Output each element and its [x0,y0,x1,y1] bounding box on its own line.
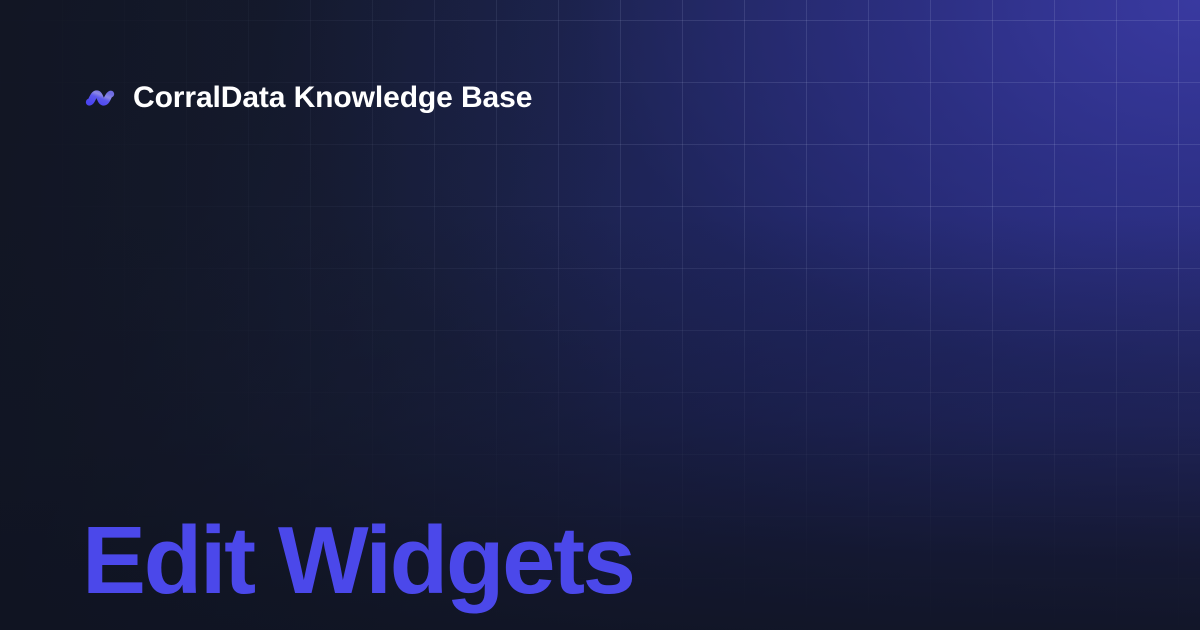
wave-logo-icon [85,83,115,113]
brand-name-label: CorralData Knowledge Base [133,83,532,113]
brand-header: CorralData Knowledge Base [85,83,532,113]
page-title: Edit Widgets [82,513,634,609]
og-banner: CorralData Knowledge Base Edit Widgets [0,0,1200,630]
